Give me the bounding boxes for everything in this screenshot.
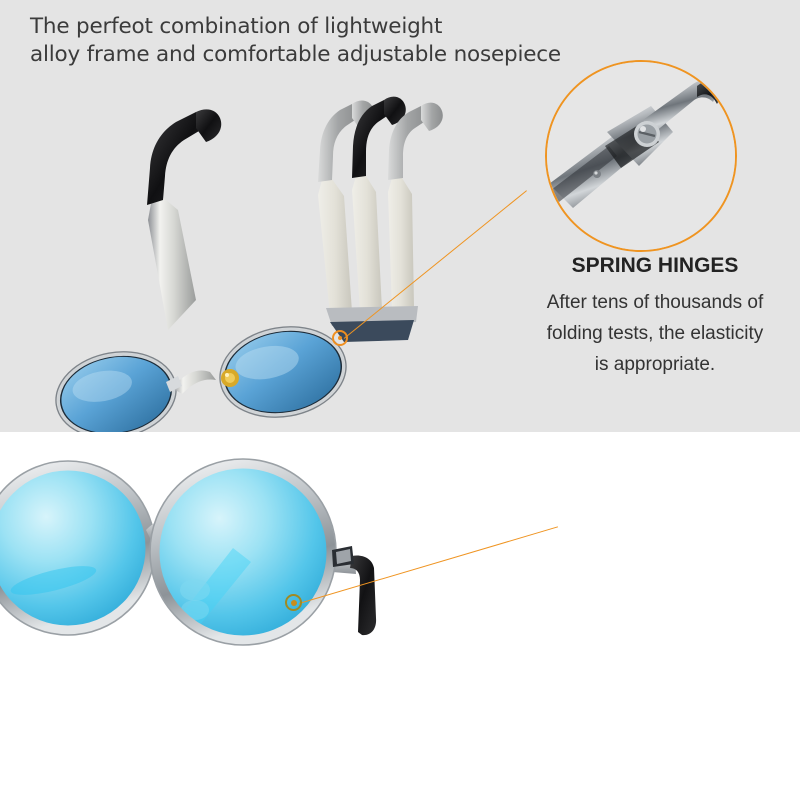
spring-hinges-body-line-1: After tens of thousands of [455, 287, 800, 318]
uv-marker-dot [285, 594, 302, 611]
spring-hinges-body: After tens of thousands of folding tests… [455, 287, 800, 380]
spring-hinges-body-line-2: folding tests, the elasticity [455, 318, 800, 349]
spring-hinge-zoom-circle [545, 60, 737, 252]
top-panel: The perfeot combination of lightweight a… [0, 0, 800, 432]
spring-hinges-title: SPRING HINGES [455, 254, 800, 278]
spring-hinges-body-line-3: is appropriate. [455, 349, 800, 380]
hinge-marker-dot [332, 330, 348, 346]
hinge-macro-art [547, 62, 735, 250]
bottom-product-image [0, 432, 800, 800]
bottom-panel: 8030 455 [0, 432, 800, 800]
infographic-page: The perfeot combination of lightweight a… [0, 0, 800, 800]
